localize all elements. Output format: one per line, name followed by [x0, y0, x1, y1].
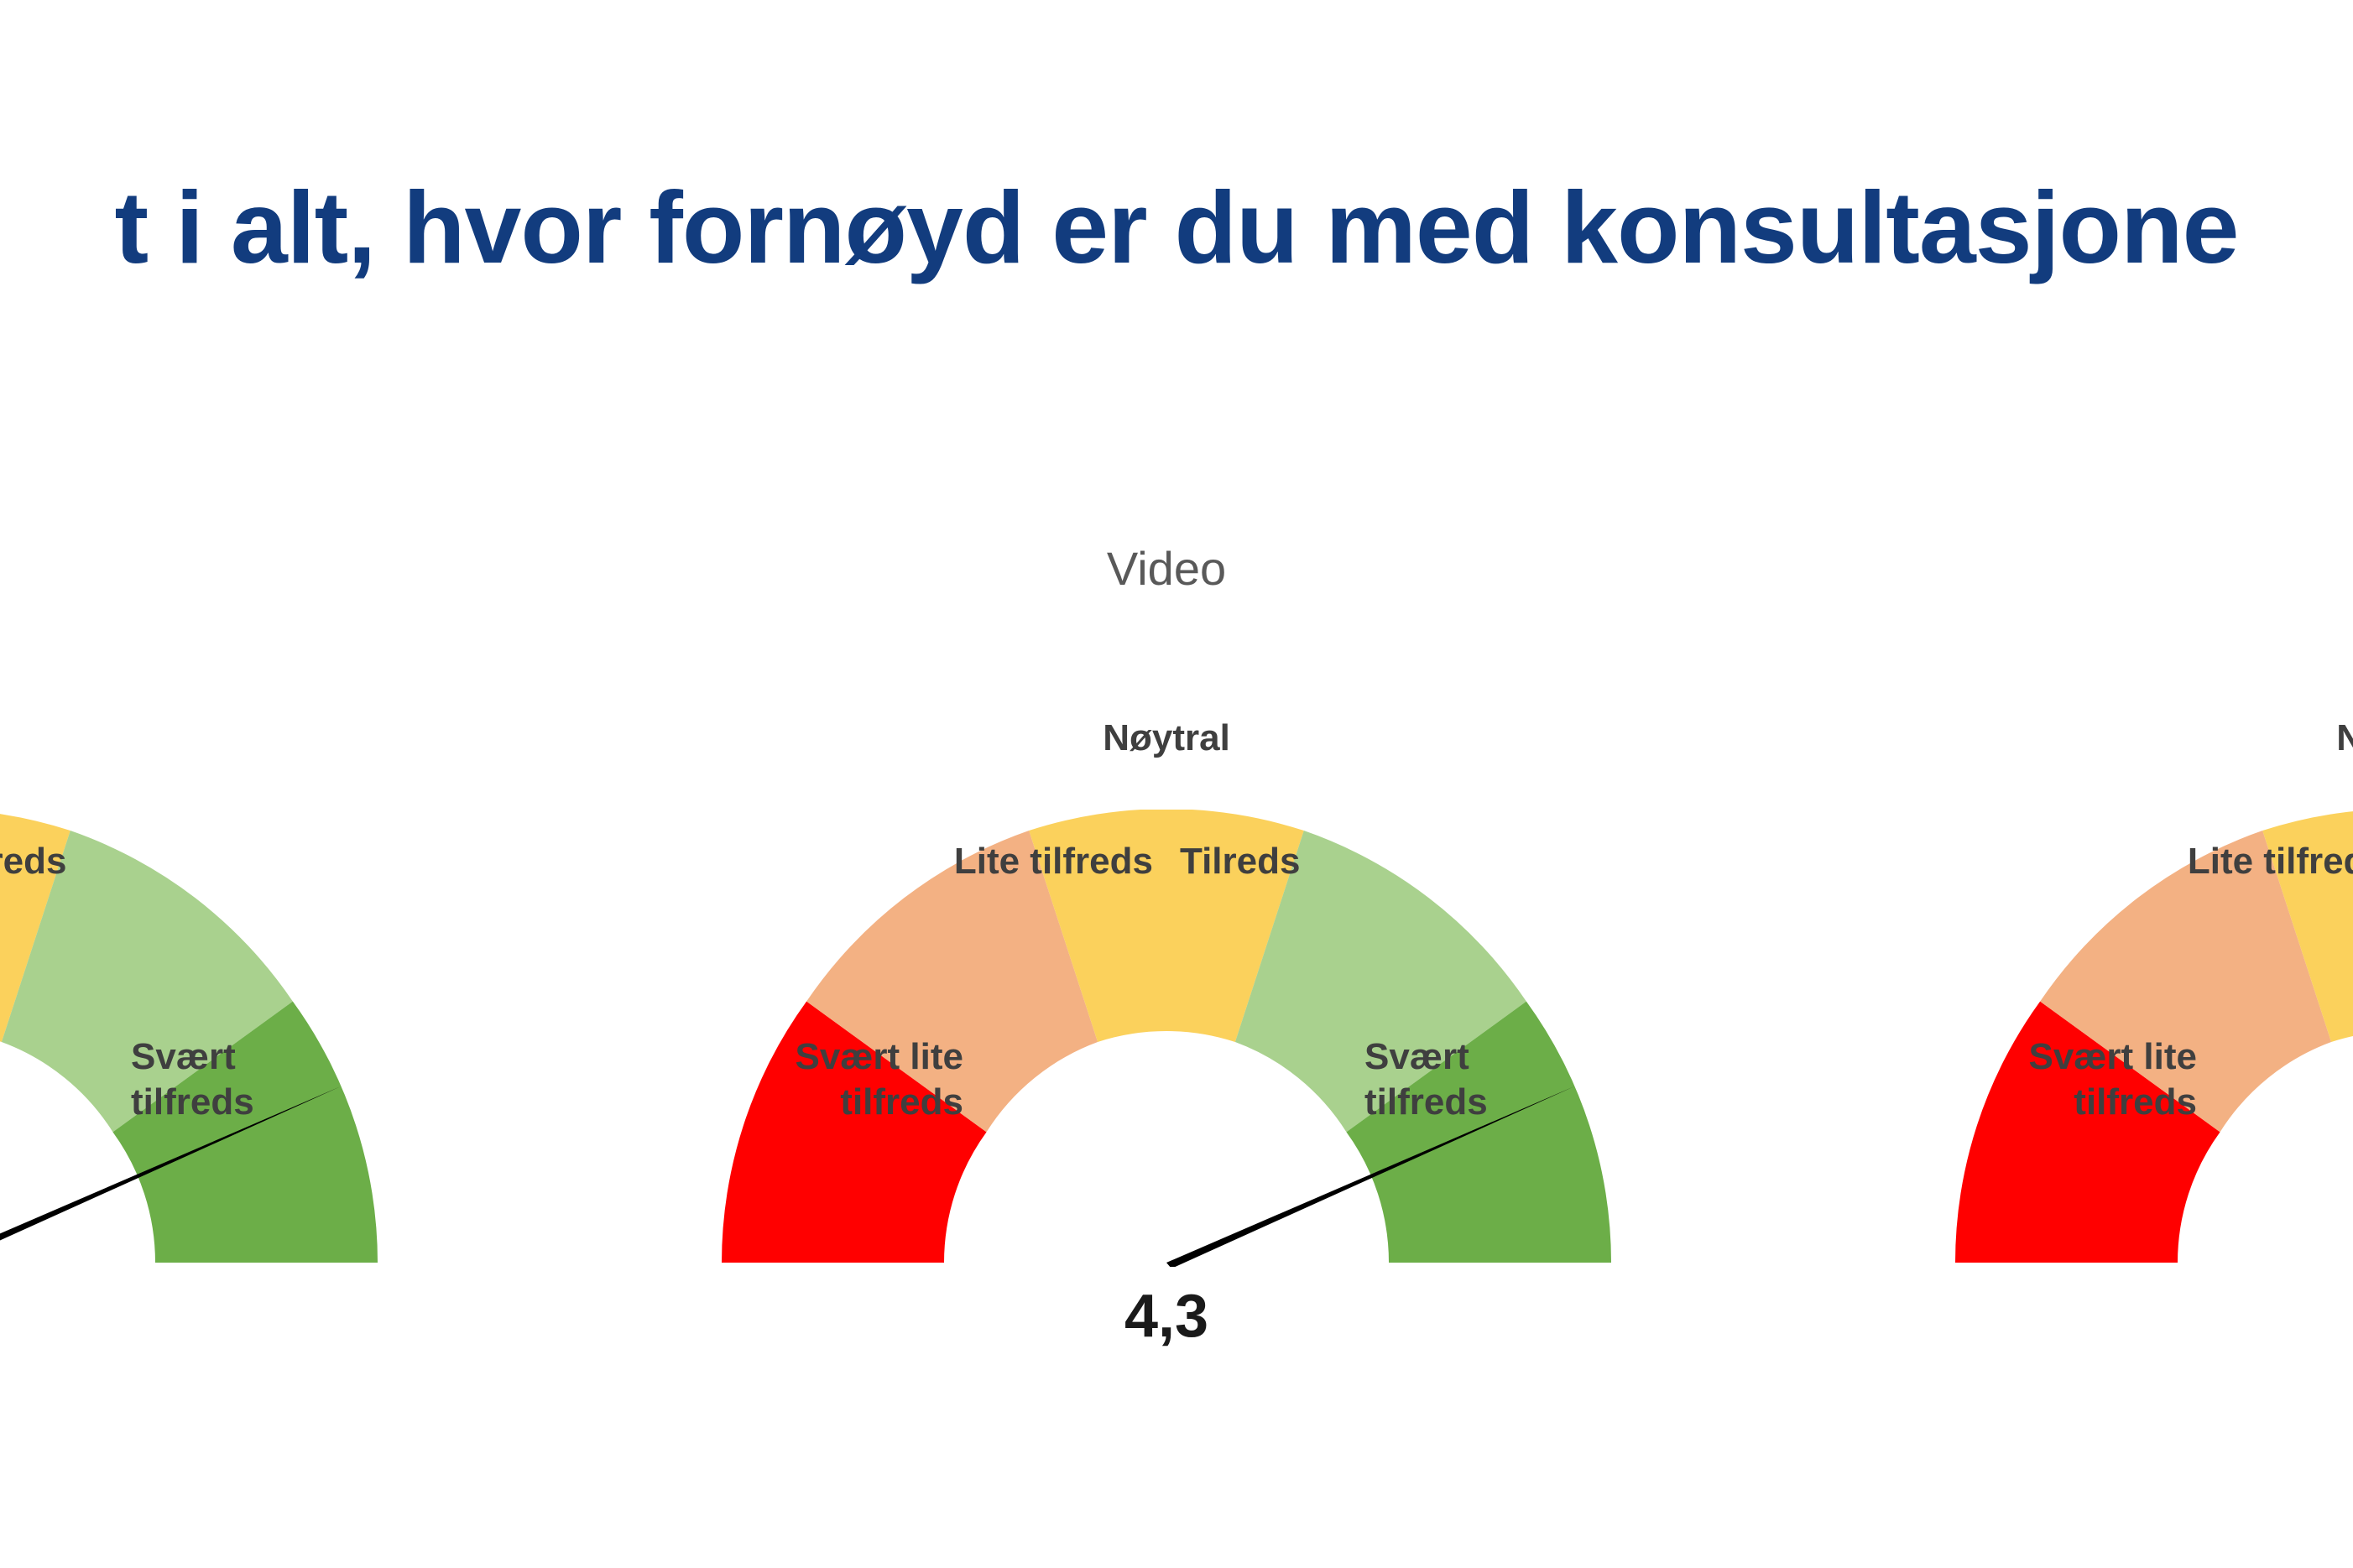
slide-canvas: t i alt, hvor fornøyd er du med konsulta…: [0, 0, 2353, 1568]
label-noytral: Nøytral: [1955, 716, 2353, 761]
label-tilreds: Tilreds: [1180, 839, 1650, 884]
label-svaert-lite-tilfreds: Svært lite tilfreds: [1727, 1034, 2197, 1124]
label-svaert-lite-tilfreds: Svært lite tilfreds: [493, 1034, 963, 1124]
label-lite-tilfreds: Lite tilfreds: [683, 839, 1153, 884]
label-noytral: Nøytral: [0, 716, 378, 761]
gauge-right: Nøytral Lite tilfreds Svært lite tilfred…: [1955, 0, 2353, 1568]
label-lite-tilfreds: Lite tilfreds: [1917, 839, 2353, 884]
gauge-center-value: 4,3: [722, 1282, 1611, 1351]
label-tilreds: Tilreds: [0, 839, 416, 884]
gauge-center-caption: Video: [722, 541, 1611, 596]
label-noytral: Nøytral: [722, 716, 1611, 761]
gauge-left: Nøytral Lite tilfreds Svært lite tilfred…: [0, 0, 378, 1568]
gauge-center: Video Nøytral Lite tilfreds Svært lite t…: [722, 0, 1611, 1568]
